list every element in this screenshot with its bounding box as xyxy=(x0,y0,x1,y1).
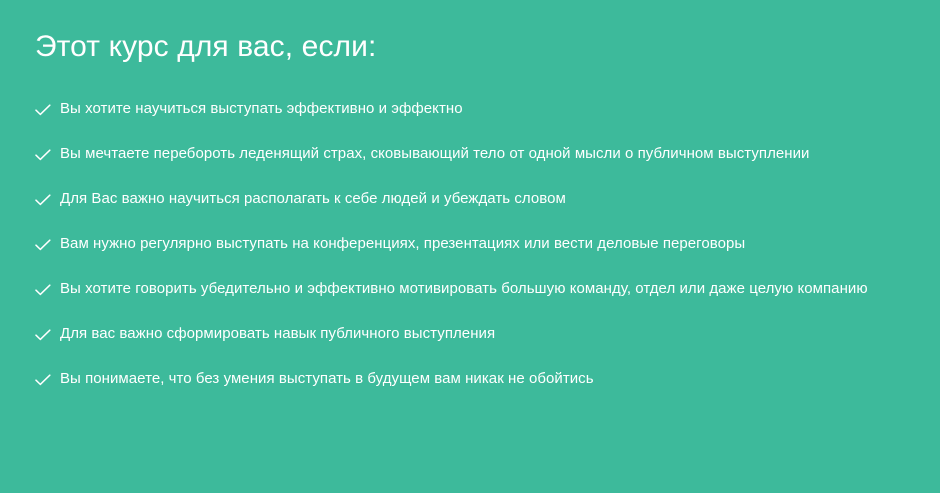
list-item-label: Для вас важно сформировать навык публичн… xyxy=(60,323,900,345)
check-icon xyxy=(35,368,53,390)
list-item: Вы хотите говорить убедительно и эффекти… xyxy=(35,278,900,300)
list-item: Вы хотите научиться выступать эффективно… xyxy=(35,98,900,120)
course-benefits-panel: Этот курс для вас, если: Вы хотите научи… xyxy=(0,0,940,493)
list-item: Для Вас важно научиться располагать к се… xyxy=(35,188,900,210)
check-icon xyxy=(35,323,53,345)
list-item: Вы понимаете, что без умения выступать в… xyxy=(35,368,900,390)
list-item-label: Вы мечтаете перебороть леденящий страх, … xyxy=(60,143,900,165)
list-item-label: Вам нужно регулярно выступать на конфере… xyxy=(60,233,850,255)
list-item: Вы мечтаете перебороть леденящий страх, … xyxy=(35,143,900,165)
panel-content: Этот курс для вас, если: Вы хотите научи… xyxy=(0,0,940,400)
check-icon xyxy=(35,98,53,120)
list-item-label: Вы хотите научиться выступать эффективно… xyxy=(60,98,900,120)
list-item-label: Для Вас важно научиться располагать к се… xyxy=(60,188,900,210)
check-icon xyxy=(35,143,53,165)
check-icon xyxy=(35,188,53,210)
benefit-list: Вы хотите научиться выступать эффективно… xyxy=(35,98,900,390)
list-item-label: Вы хотите говорить убедительно и эффекти… xyxy=(60,278,885,300)
page-title: Этот курс для вас, если: xyxy=(35,30,900,64)
list-item: Вам нужно регулярно выступать на конфере… xyxy=(35,233,900,255)
check-icon xyxy=(35,278,53,300)
check-icon xyxy=(35,233,53,255)
list-item: Для вас важно сформировать навык публичн… xyxy=(35,323,900,345)
list-item-label: Вы понимаете, что без умения выступать в… xyxy=(60,368,900,390)
